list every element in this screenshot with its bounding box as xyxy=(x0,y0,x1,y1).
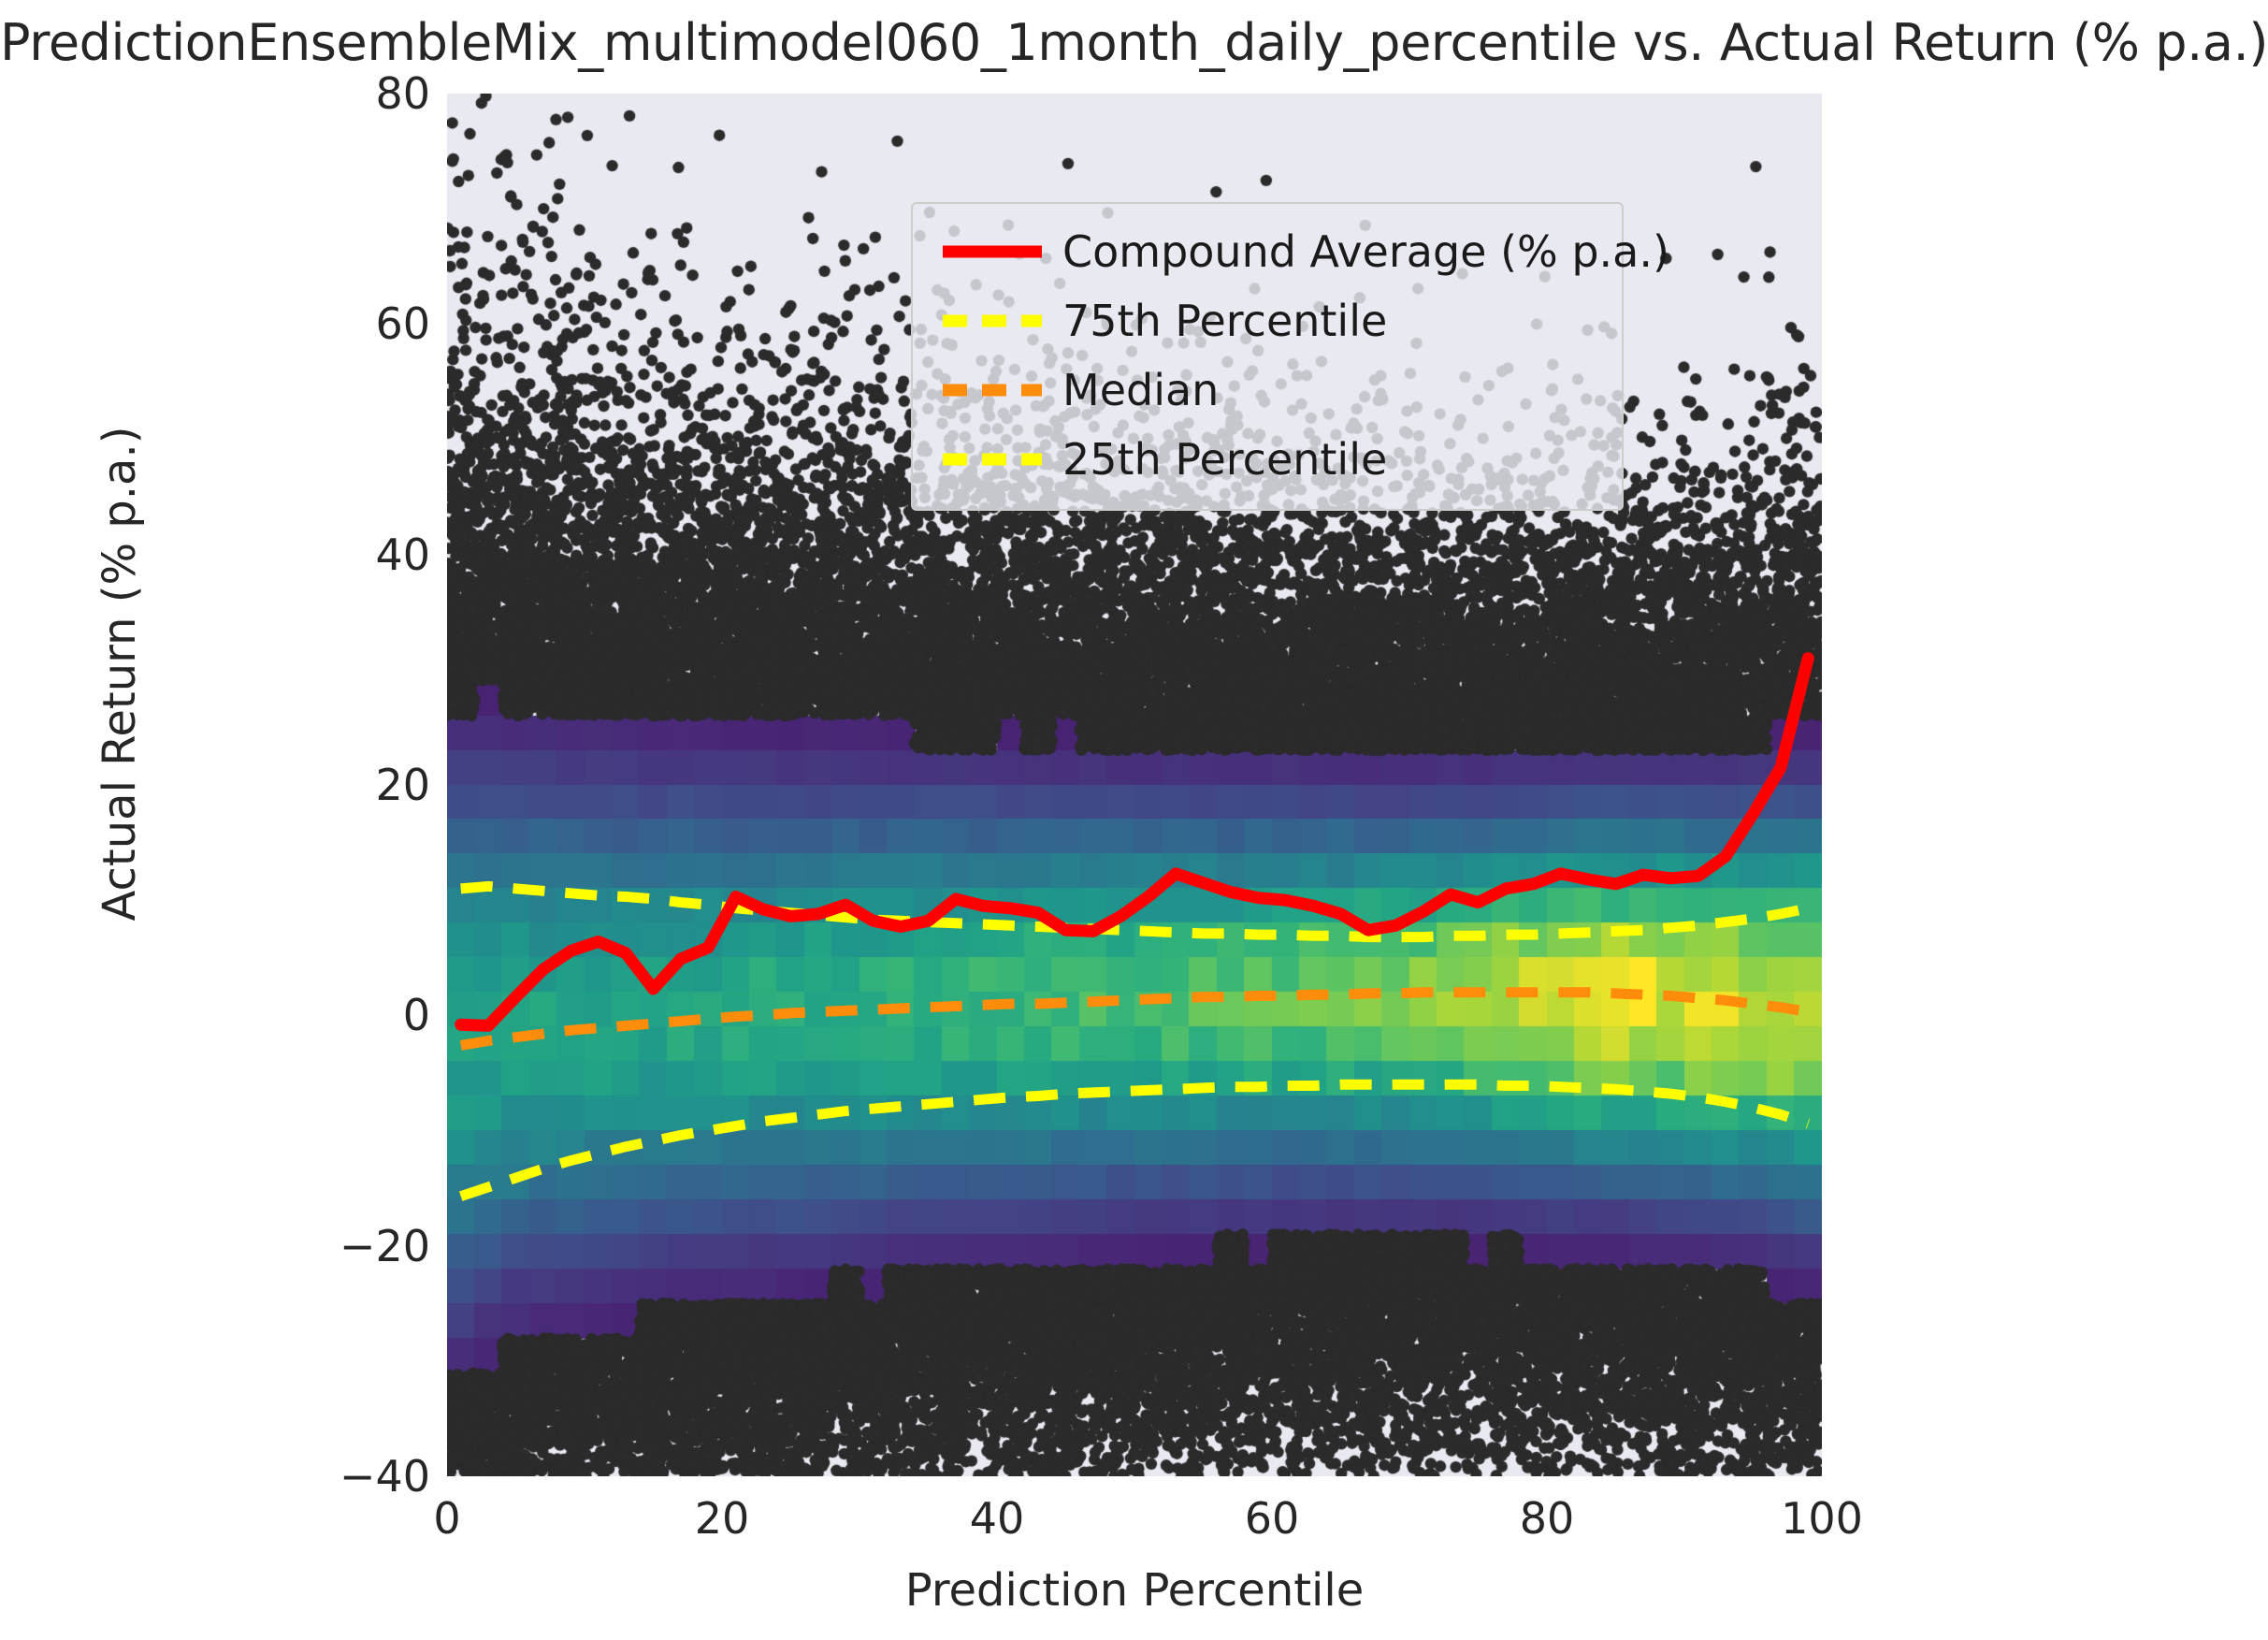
y-tick-neg20: −20 xyxy=(290,1221,430,1271)
chart-page: PredictionEnsembleMix_multimodel060_1mon… xyxy=(0,0,2268,1640)
legend-label-75th-percentile: 75th Percentile xyxy=(1062,296,1387,346)
compound-average-line xyxy=(461,659,1809,1026)
y-tick-40: 40 xyxy=(290,530,430,580)
y-tick-20: 20 xyxy=(290,760,430,810)
legend-label-25th-percentile: 25th Percentile xyxy=(1062,434,1387,485)
legend-item-median: Median xyxy=(922,356,1612,425)
legend-item-25th-percentile: 25th Percentile xyxy=(922,425,1612,494)
y-axis-label: Actual Return (% p.a.) xyxy=(94,206,146,1141)
legend-swatch-dashed-yellow-75 xyxy=(922,286,1062,356)
y-axis-ticks: 80 60 40 20 0 −20 −40 xyxy=(281,0,430,1640)
x-tick-20: 20 xyxy=(628,1493,816,1544)
y-tick-60: 60 xyxy=(290,298,430,349)
x-tick-100: 100 xyxy=(1728,1493,1915,1544)
y-tick-0: 0 xyxy=(290,990,430,1040)
legend: Compound Average (% p.a.) 75th Percentil… xyxy=(911,202,1624,511)
median-line xyxy=(461,993,1809,1046)
legend-swatch-solid-red xyxy=(922,217,1062,286)
x-tick-0: 0 xyxy=(354,1493,541,1544)
x-tick-40: 40 xyxy=(903,1493,1091,1544)
y-tick-80: 80 xyxy=(290,68,430,119)
legend-item-compound-average: Compound Average (% p.a.) xyxy=(922,217,1612,286)
x-tick-60: 60 xyxy=(1178,1493,1365,1544)
legend-swatch-dashed-orange xyxy=(922,356,1062,425)
y-axis-label-wrap: Actual Return (% p.a.) xyxy=(0,0,1,1)
plot-area: Compound Average (% p.a.) 75th Percentil… xyxy=(447,94,1822,1476)
legend-item-75th-percentile: 75th Percentile xyxy=(922,286,1612,356)
percentile-25-line xyxy=(461,1084,1809,1197)
legend-swatch-dashed-yellow-25 xyxy=(922,425,1062,494)
legend-label-compound-average: Compound Average (% p.a.) xyxy=(1062,226,1669,277)
x-axis-label: Prediction Percentile xyxy=(447,1564,1822,1617)
legend-label-median: Median xyxy=(1062,365,1219,415)
x-tick-80: 80 xyxy=(1453,1493,1640,1544)
